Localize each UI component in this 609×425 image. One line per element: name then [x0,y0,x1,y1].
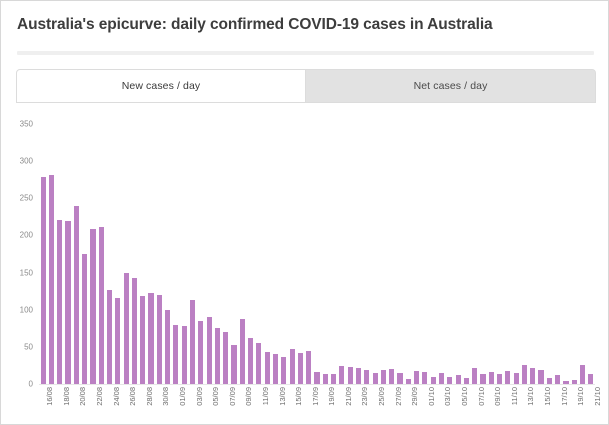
bar[interactable] [580,365,585,384]
x-axis-line [39,384,595,385]
title-divider [17,51,594,55]
bar[interactable] [90,229,95,384]
x-axis-tick: 18/08 [63,387,71,406]
bar[interactable] [439,373,444,384]
bar[interactable] [555,375,560,384]
bar[interactable] [140,296,145,384]
bar[interactable] [472,368,477,384]
bar[interactable] [422,372,427,384]
bar[interactable] [339,366,344,384]
bar[interactable] [148,293,153,384]
bar[interactable] [480,374,485,384]
bar[interactable] [265,352,270,384]
y-axis-tick-200: 200 [1,231,33,240]
bar[interactable] [530,368,535,384]
x-axis-tick: 03/09 [196,387,204,406]
x-axis-tick: 19/10 [577,387,585,406]
bar[interactable] [49,175,54,384]
plot-area [39,124,595,384]
x-axis-tick: 17/10 [561,387,569,406]
x-axis-tick: 17/09 [312,387,320,406]
bar[interactable] [198,321,203,384]
x-axis-tick: 24/08 [113,387,121,406]
bar[interactable] [298,353,303,384]
x-axis-tick: 11/10 [511,387,519,405]
y-axis-tick-50: 50 [1,342,33,351]
x-axis-tick: 21/09 [345,387,353,406]
page-title: Australia's epicurve: daily confirmed CO… [17,15,592,35]
x-axis-tick: 25/09 [378,387,386,406]
bar[interactable] [356,368,361,384]
bar[interactable] [414,371,419,384]
x-axis-tick: 13/10 [527,387,535,406]
bar[interactable] [489,372,494,384]
bar[interactable] [348,367,353,384]
x-axis-tick: 16/08 [46,387,54,406]
bar[interactable] [215,328,220,384]
bar[interactable] [290,349,295,384]
bar[interactable] [231,345,236,384]
x-axis-tick: 23/09 [361,387,369,406]
bar[interactable] [314,372,319,384]
bar[interactable] [456,375,461,384]
chart-page: Australia's epicurve: daily confirmed CO… [0,0,609,425]
bar[interactable] [381,370,386,384]
x-axis-tick: 13/09 [279,387,287,406]
bar[interactable] [522,365,527,384]
bar[interactable] [389,369,394,384]
y-axis-tick-350: 350 [1,120,33,129]
tab-net-cases-per-day[interactable]: Net cases / day [306,70,595,102]
x-axis-tick: 07/10 [478,387,486,406]
bar[interactable] [157,295,162,384]
x-axis-tick: 26/08 [129,387,137,406]
bar[interactable] [281,357,286,384]
bar[interactable] [248,338,253,384]
bar[interactable] [447,377,452,384]
tab-new-cases-label: New cases / day [122,80,201,92]
bar[interactable] [132,278,137,384]
bar[interactable] [115,298,120,384]
bar[interactable] [190,300,195,384]
x-axis-tick: 28/08 [146,387,154,406]
y-axis-tick-100: 100 [1,305,33,314]
y-axis-tick-300: 300 [1,157,33,166]
bar[interactable] [373,373,378,384]
epicurve-bar-chart: 16/0818/0820/0822/0824/0826/0828/0830/08… [1,103,609,425]
page-header: Australia's epicurve: daily confirmed CO… [1,1,608,55]
x-axis-tick: 15/10 [544,387,552,406]
bar[interactable] [207,317,212,384]
x-axis-tick: 05/10 [461,387,469,406]
y-axis-tick-150: 150 [1,268,33,277]
x-axis-tick: 11/09 [262,387,270,405]
bar[interactable] [124,273,129,384]
x-axis-tick: 20/08 [79,387,87,406]
bar[interactable] [107,290,112,384]
x-axis-tick: 07/09 [229,387,237,406]
bar[interactable] [182,326,187,384]
x-axis-tick: 01/09 [179,387,187,406]
x-axis-tick: 09/09 [245,387,253,406]
bar[interactable] [588,374,593,384]
tab-bar: New cases / day Net cases / day [16,69,596,103]
y-axis-tick-0: 0 [1,380,33,389]
x-axis-tick: 09/10 [494,387,502,406]
x-axis-tick: 01/10 [428,387,436,406]
bar[interactable] [82,254,87,384]
x-axis-tick: 05/09 [212,387,220,406]
x-axis-tick: 21/10 [594,387,602,406]
x-axis-tick: 03/10 [444,387,452,406]
bar[interactable] [256,343,261,384]
x-axis-tick: 22/08 [96,387,104,406]
bar[interactable] [99,227,104,384]
x-axis-tick: 30/08 [162,387,170,406]
bar[interactable] [431,377,436,384]
x-axis: 16/0818/0820/0822/0824/0826/0828/0830/08… [39,387,595,425]
tab-net-cases-label: Net cases / day [414,80,488,92]
bar[interactable] [497,374,502,384]
bar[interactable] [57,220,62,384]
bar[interactable] [397,373,402,384]
bar[interactable] [173,325,178,384]
bar[interactable] [331,374,336,384]
bar[interactable] [514,373,519,384]
x-axis-tick: 29/09 [411,387,419,406]
bar[interactable] [240,319,245,384]
bar[interactable] [41,177,46,384]
bar[interactable] [223,332,228,384]
bar[interactable] [323,374,328,384]
bar[interactable] [165,310,170,384]
x-axis-tick: 19/09 [328,387,336,406]
y-axis-tick-250: 250 [1,194,33,203]
x-axis-tick: 27/09 [395,387,403,406]
tab-new-cases-per-day[interactable]: New cases / day [17,70,306,102]
bar[interactable] [273,354,278,384]
x-axis-tick: 15/09 [295,387,303,406]
bar[interactable] [505,371,510,384]
bar[interactable] [538,370,543,384]
bar[interactable] [74,206,79,384]
bar[interactable] [306,351,311,384]
bar[interactable] [65,221,70,384]
bar[interactable] [364,370,369,384]
